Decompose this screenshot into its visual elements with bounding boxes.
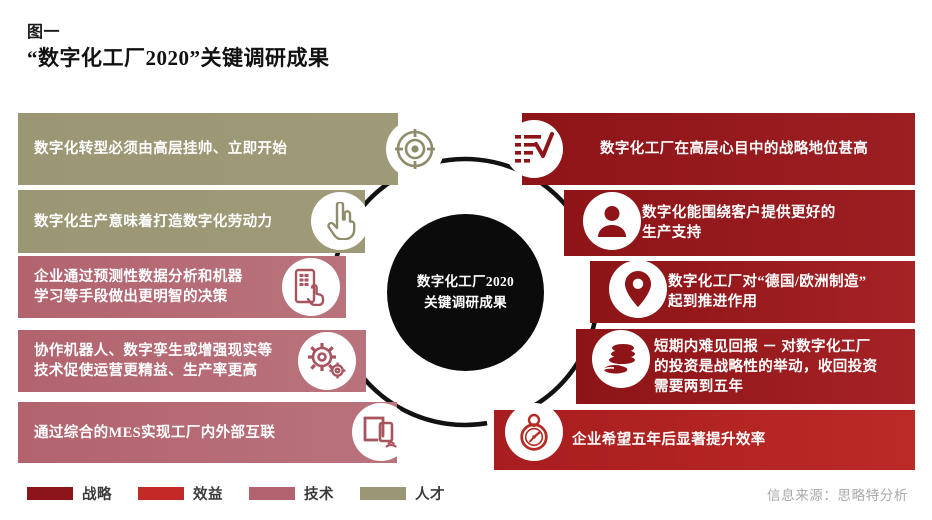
left-bar-1-label: 数字化转型必须由高层挂帅、立即开始 <box>34 139 287 159</box>
legend-label-technology: 技术 <box>304 483 334 504</box>
left-bar-4-label: 协作机器人、数字孪生或增强现实等技术促使运营更精益、生产率更高 <box>34 341 272 381</box>
devices-wifi-icon <box>362 415 400 449</box>
legend-swatch-benefit <box>138 487 184 500</box>
mobile-tap-icon-circle[interactable] <box>282 258 340 316</box>
stopwatch-icon-circle[interactable] <box>505 403 563 461</box>
mobile-tap-icon <box>293 268 329 306</box>
source-note: 信息来源：思略特分析 <box>767 484 908 504</box>
legend: 战略 效益 技术 人才 <box>27 483 471 504</box>
hand-pointer-icon <box>323 202 357 240</box>
location-pin-icon-circle[interactable] <box>609 260 667 318</box>
center-line-1: 数字化工厂2020 <box>417 272 514 292</box>
checklist-icon-circle[interactable] <box>505 120 563 178</box>
left-bar-5[interactable]: 通过综合的MES实现工厂内外部互联 <box>18 402 397 463</box>
infographic-canvas: 图一 “数字化工厂2020”关键调研成果 数字化转型必须由高层挂帅、立即开始 数… <box>0 0 932 520</box>
legend-item-technology: 技术 <box>249 483 334 504</box>
gears-icon <box>307 342 347 380</box>
devices-wifi-icon-circle[interactable] <box>352 403 410 461</box>
center-hub: 数字化工厂2020 关键调研成果 <box>387 214 544 371</box>
legend-item-strategy: 战略 <box>27 483 112 504</box>
center-line-2: 关键调研成果 <box>424 293 507 313</box>
right-bar-3-label: 数字化工厂对“德国/欧洲制造”起到推进作用 <box>668 272 867 312</box>
coins-icon-circle[interactable] <box>592 330 650 388</box>
gears-icon-circle[interactable] <box>298 332 356 390</box>
target-icon-circle[interactable] <box>386 120 444 178</box>
person-icon-circle[interactable] <box>583 192 641 250</box>
legend-swatch-strategy <box>27 487 73 500</box>
coins-icon <box>601 343 641 375</box>
stopwatch-icon <box>517 413 551 451</box>
location-pin-icon <box>623 270 653 308</box>
left-bar-1[interactable]: 数字化转型必须由高层挂帅、立即开始 <box>18 113 398 185</box>
legend-item-talent: 人才 <box>360 483 445 504</box>
left-bar-5-label: 通过综合的MES实现工厂内外部互联 <box>34 423 275 443</box>
right-bar-1[interactable]: 数字化工厂在高层心目中的战略地位甚高 <box>522 113 915 185</box>
right-bar-2-label: 数字化能围绕客户提供更好的生产支持 <box>642 203 836 243</box>
legend-swatch-technology <box>249 487 295 500</box>
legend-item-benefit: 效益 <box>138 483 223 504</box>
target-icon <box>395 129 435 169</box>
legend-label-benefit: 效益 <box>193 483 223 504</box>
left-bar-2-label: 数字化生产意味着打造数字化劳动力 <box>34 212 272 232</box>
checklist-icon <box>514 132 554 166</box>
legend-swatch-talent <box>360 487 406 500</box>
right-bar-4-label: 短期内难见回报 － 对数字化工厂的投资是战略性的举动，收回投资需要两到五年 <box>654 337 878 397</box>
legend-label-talent: 人才 <box>415 483 445 504</box>
left-bar-3-label: 企业通过预测性数据分析和机器学习等手段做出更明智的决策 <box>34 267 243 307</box>
right-bar-5-label: 企业希望五年后显著提升效率 <box>572 430 766 450</box>
right-bar-1-label: 数字化工厂在高层心目中的战略地位甚高 <box>600 139 868 159</box>
hand-pointer-icon-circle[interactable] <box>311 192 369 250</box>
legend-label-strategy: 战略 <box>82 483 112 504</box>
person-icon <box>595 204 629 238</box>
